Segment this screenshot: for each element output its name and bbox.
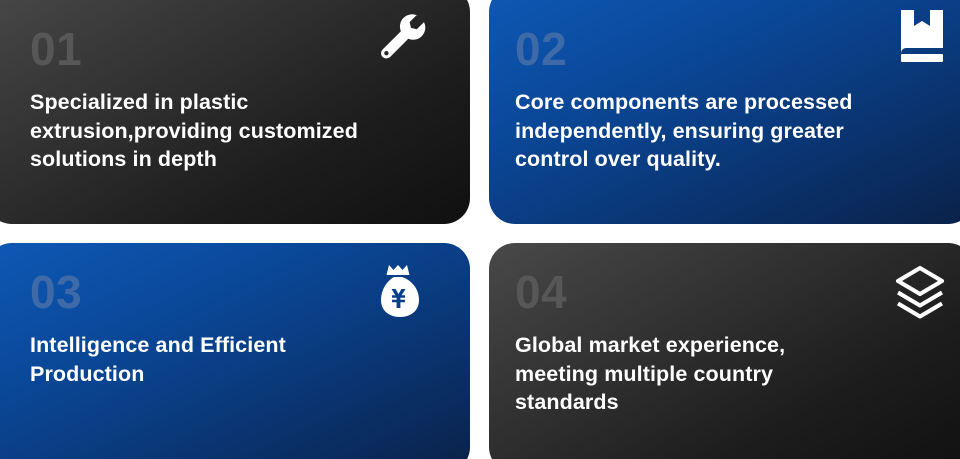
feature-card-02[interactable]: 02 Core components are processed indepen… (489, 0, 960, 224)
card-title-04: Global market experience, meeting multip… (515, 331, 915, 417)
card-content-02: 02 Core components are processed indepen… (489, 0, 960, 224)
card-content-04: 04 Global market experience, meeting mul… (489, 243, 960, 459)
wrench-icon (372, 8, 428, 64)
feature-card-01[interactable]: 01 Specialized in plastic extrusion,prov… (0, 0, 470, 224)
feature-card-grid: 01 Specialized in plastic extrusion,prov… (0, 0, 960, 459)
card-title-01: Specialized in plastic extrusion,providi… (30, 88, 440, 174)
book-bookmark-icon (896, 10, 948, 62)
money-bag-yen-icon (372, 263, 428, 319)
card-title-03: Intelligence and Efficient Production (30, 331, 440, 388)
card-title-02: Core components are processed independen… (515, 88, 944, 174)
card-number-02: 02 (515, 26, 944, 72)
feature-card-04[interactable]: 04 Global market experience, meeting mul… (489, 243, 960, 459)
card-number-04: 04 (515, 269, 944, 315)
feature-card-03[interactable]: 03 Intelligence and Efficient Production (0, 243, 470, 459)
layers-stack-icon (892, 265, 948, 321)
